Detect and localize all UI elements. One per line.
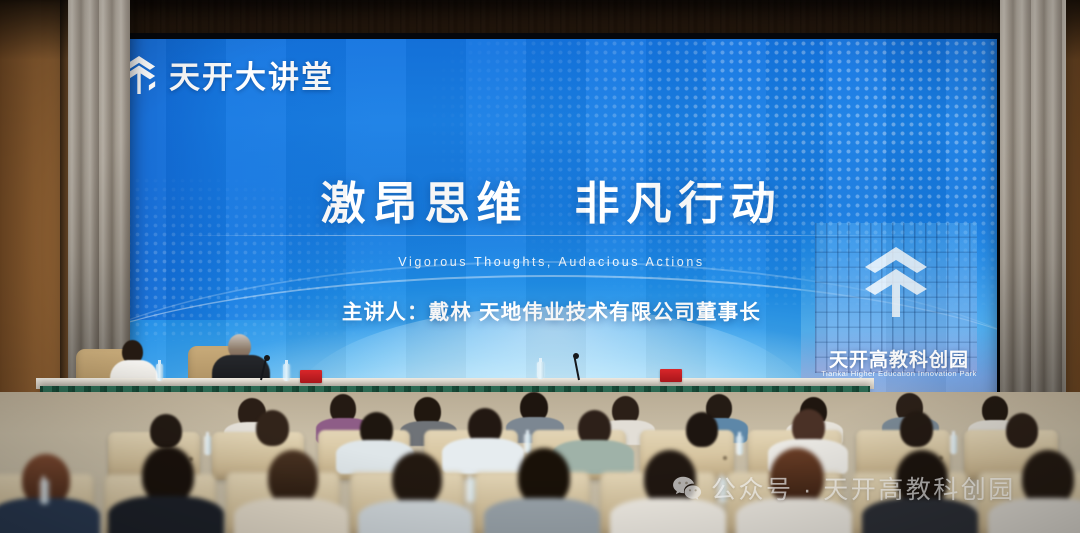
park-banner-en: Tiankai Higher Education Innovation Park	[801, 369, 997, 378]
name-card-right	[660, 369, 682, 382]
shoulders-mid-4	[442, 438, 524, 474]
park-banner-graphic: 天开高教科创园 Tiankai Higher Education Innovat…	[801, 217, 997, 399]
curtain-left-shadow	[60, 0, 69, 418]
name-card-left	[300, 370, 322, 383]
tiankai-park-mark-icon	[859, 243, 933, 319]
microphone-right-head	[573, 353, 579, 359]
water-bottle-table-center	[283, 364, 290, 381]
head-mid-6	[686, 412, 718, 447]
microphone-left-head	[264, 355, 270, 361]
shoulders-near-5	[484, 498, 600, 533]
headline-left: 激昂思维	[320, 178, 528, 229]
audience-area	[0, 392, 1080, 533]
shoulders-near-1	[0, 498, 100, 533]
water-bottle-mid-1	[204, 436, 211, 455]
wechat-watermark: 公众号 · 天开高教科创园	[672, 470, 1016, 506]
shoulders-near-2	[108, 496, 224, 533]
water-bottle-mid-2	[524, 434, 531, 453]
water-bottle-mid-4	[950, 435, 957, 454]
photo-scene: 天开大讲堂 激昂思维非凡行动 Vigorous Thoughts, Audaci…	[0, 0, 1080, 533]
watermark-text: 公众号 · 天开高教科创园	[711, 470, 1016, 506]
park-banner-cn: 天开高教科创园	[801, 345, 997, 372]
brand-logo-text: 天开大讲堂	[169, 52, 334, 97]
head-mid-8	[900, 411, 933, 447]
water-bottle-near-1	[40, 480, 49, 504]
headline-right: 非凡行动	[575, 178, 783, 229]
water-bottle-table-left	[156, 364, 163, 381]
head-mid-2	[256, 410, 289, 446]
head-mid-9	[1006, 413, 1038, 448]
shoulders-near-3	[234, 498, 348, 533]
head-mid-1	[150, 414, 182, 448]
brand-logo-lockup: 天开大讲堂	[120, 52, 334, 97]
water-bottle-mid-3	[736, 436, 743, 455]
head-near-4	[392, 452, 442, 506]
water-bottle-near-2	[466, 478, 475, 502]
water-bottle-table-right	[537, 362, 544, 379]
wechat-icon	[672, 475, 702, 501]
curtain-right	[1000, 0, 1066, 433]
shoulders-near-4	[358, 500, 472, 533]
